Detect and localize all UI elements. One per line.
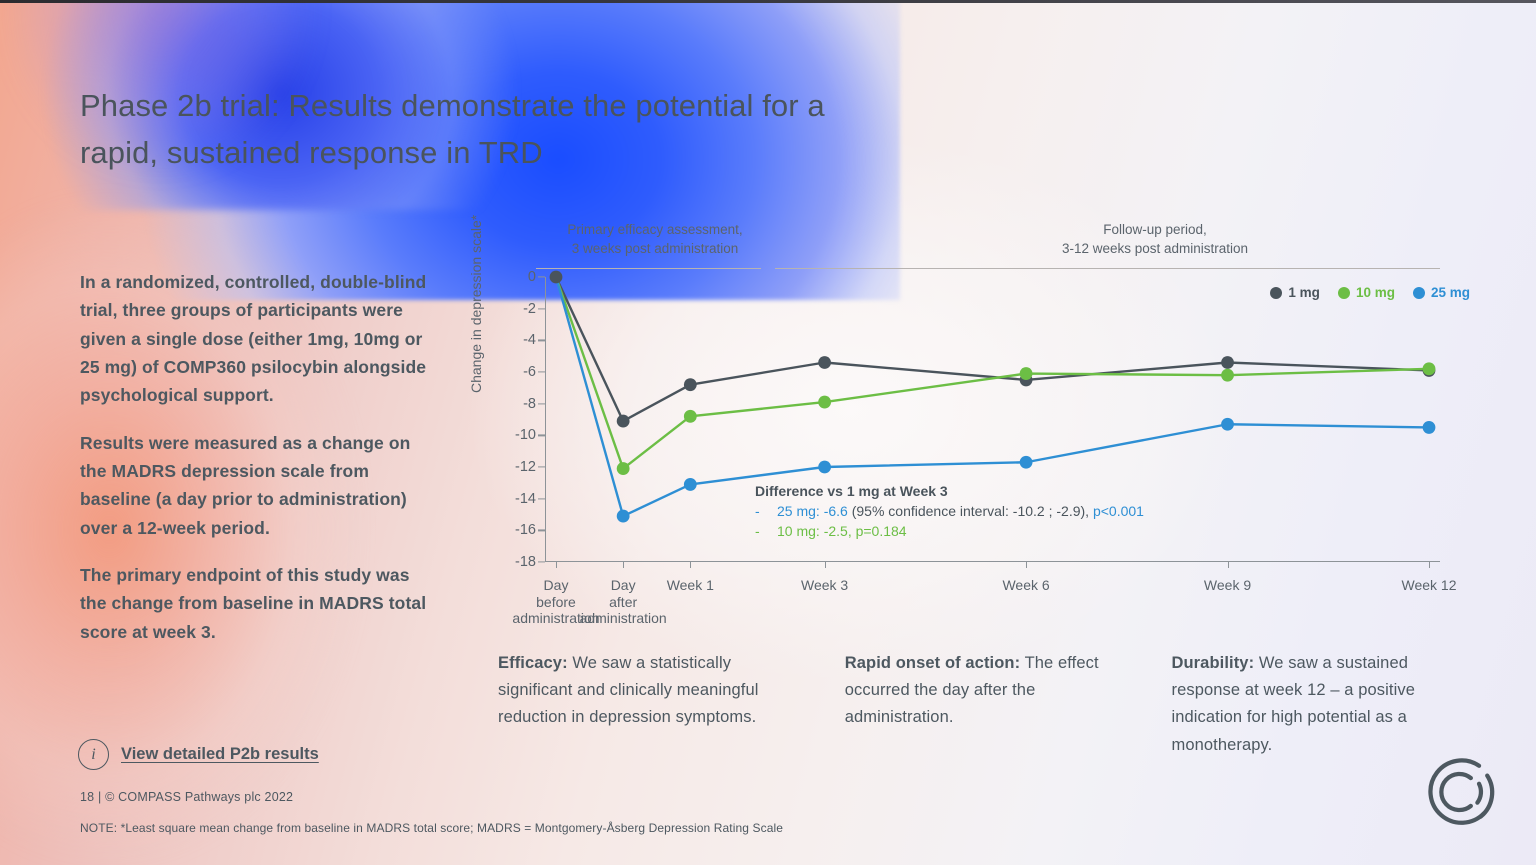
x-axis-tick-mark xyxy=(623,562,624,568)
x-axis-tick-label-line: Week 6 xyxy=(1002,577,1049,594)
footer-note: NOTE: *Least square mean change from bas… xyxy=(80,821,783,835)
y-axis-tick-label: -16 xyxy=(515,522,536,538)
data-point xyxy=(617,510,630,523)
callout-efficacy: Efficacy: We saw a statistically signifi… xyxy=(498,650,785,759)
body-paragraph-2: Results were measured as a change on the… xyxy=(80,429,440,542)
y-axis-tick-mark xyxy=(538,435,545,436)
series-layer xyxy=(545,277,845,427)
annotation-title: Difference vs 1 mg at Week 3 xyxy=(755,483,1144,499)
period-label-followup: Follow-up period, 3-12 weeks post admini… xyxy=(1000,220,1310,258)
x-axis-tick-mark xyxy=(690,562,691,568)
detailed-results-link-label[interactable]: View detailed P2b results xyxy=(121,745,319,764)
y-axis-tick-label: -2 xyxy=(523,301,536,317)
y-axis-tick-mark xyxy=(538,276,545,277)
y-axis-tick-mark xyxy=(538,466,545,467)
data-point xyxy=(818,396,831,409)
body-paragraph-1: In a randomized, controlled, double-blin… xyxy=(80,268,440,410)
results-chart: Primary efficacy assessment, 3 weeks pos… xyxy=(470,215,1470,615)
annotation-pvalue-25mg: p<0.001 xyxy=(1093,503,1144,519)
period-followup-line2: 3-12 weeks post administration xyxy=(1000,239,1310,258)
info-icon: i xyxy=(78,739,109,770)
annotation-detail-25mg: (95% confidence interval: -10.2 ; -2.9), xyxy=(848,503,1093,519)
data-point xyxy=(1423,362,1436,375)
annotation-bullet: - xyxy=(755,502,765,522)
series-line-1mg xyxy=(556,277,1429,421)
x-axis-tick-mark xyxy=(1228,562,1229,568)
x-axis-tick-mark xyxy=(1026,562,1027,568)
x-axis-tick-mark xyxy=(825,562,826,568)
period-followup-line1: Follow-up period, xyxy=(1000,220,1310,239)
period-primary-line2: 3 weeks post administration xyxy=(550,239,760,258)
data-point xyxy=(684,410,697,423)
body-copy: In a randomized, controlled, double-blin… xyxy=(80,268,440,665)
x-axis-tick-label: Week 12 xyxy=(1402,577,1457,594)
x-axis-tick-label-line: Week 3 xyxy=(801,577,848,594)
y-axis-tick-label: -8 xyxy=(523,396,536,412)
y-axis-tick-mark xyxy=(538,498,545,499)
footer-copyright: 18 | © COMPASS Pathways plc 2022 xyxy=(80,790,293,804)
y-axis-tick-mark xyxy=(538,561,545,562)
period-rule-followup xyxy=(775,268,1440,269)
data-point xyxy=(818,461,831,474)
data-point xyxy=(684,478,697,491)
data-point xyxy=(684,378,697,391)
y-axis-tick-label: -10 xyxy=(515,427,536,443)
y-axis-tick-label: -14 xyxy=(515,491,536,507)
x-axis-tick-label: Dayafteradministration xyxy=(580,577,667,627)
annotation-bullet: - xyxy=(755,522,765,542)
series-line-10mg xyxy=(556,277,1429,469)
annotation-row-10mg: - 10 mg: -2.5, p=0.184 xyxy=(755,522,1144,542)
x-axis-tick-label-line: administration xyxy=(580,610,667,627)
key-findings: Efficacy: We saw a statistically signifi… xyxy=(498,650,1478,759)
data-point xyxy=(818,356,831,369)
y-axis-tick-mark xyxy=(538,530,545,531)
data-point xyxy=(617,462,630,475)
y-axis-tick-label: -6 xyxy=(523,364,536,380)
compass-logo-icon xyxy=(1420,751,1502,833)
y-axis-tick-mark xyxy=(538,308,545,309)
annotation-row-25mg: - 25 mg: -6.6 (95% confidence interval: … xyxy=(755,502,1144,522)
x-axis-tick-label-line: Week 1 xyxy=(667,577,714,594)
annotation-text-25mg: 25 mg: -6.6 (95% confidence interval: -1… xyxy=(777,502,1144,522)
callout-durability: Durability: We saw a sustained response … xyxy=(1171,650,1478,759)
y-axis-tick-mark xyxy=(538,340,545,341)
x-axis-tick-label-line: after xyxy=(580,594,667,611)
callout-rapid-onset: Rapid onset of action: The effect occurr… xyxy=(845,650,1132,759)
slide-canvas: Phase 2b trial: Results demonstrate the … xyxy=(0,0,1536,865)
x-axis-tick-label-line: Week 12 xyxy=(1402,577,1457,594)
data-point xyxy=(1020,367,1033,380)
period-primary-line1: Primary efficacy assessment, xyxy=(550,220,760,239)
difference-annotation: Difference vs 1 mg at Week 3 - 25 mg: -6… xyxy=(755,483,1144,542)
x-axis-tick-label: Week 3 xyxy=(801,577,848,594)
detailed-results-link[interactable]: i View detailed P2b results xyxy=(78,739,319,770)
x-axis-tick-label: Week 9 xyxy=(1204,577,1251,594)
period-label-primary: Primary efficacy assessment, 3 weeks pos… xyxy=(550,220,760,258)
y-axis-tick-label: 0 xyxy=(528,269,536,285)
annotation-text-10mg: 10 mg: -2.5, p=0.184 xyxy=(777,522,907,542)
callout-efficacy-title: Efficacy: xyxy=(498,654,568,672)
data-point xyxy=(550,271,563,284)
body-paragraph-3: The primary endpoint of this study was t… xyxy=(80,561,440,646)
x-axis-tick-label-line: Week 9 xyxy=(1204,577,1251,594)
x-axis-tick-label-line: Day xyxy=(580,577,667,594)
x-axis-line xyxy=(545,561,1440,562)
annotation-dose-10mg: 10 mg: -2.5, p=0.184 xyxy=(777,523,907,539)
y-axis-tick-mark xyxy=(538,371,545,372)
x-axis-tick-label: Week 1 xyxy=(667,577,714,594)
x-axis-tick-mark xyxy=(556,562,557,568)
data-point xyxy=(1423,421,1436,434)
period-rule-primary xyxy=(536,268,761,269)
y-axis-tick-mark xyxy=(538,403,545,404)
x-axis-tick-mark xyxy=(1429,562,1430,568)
callout-durability-title: Durability: xyxy=(1171,654,1254,672)
page-title: Phase 2b trial: Results demonstrate the … xyxy=(80,82,910,176)
data-point xyxy=(1221,369,1234,382)
data-point xyxy=(617,415,630,428)
x-axis-tick-label: Week 6 xyxy=(1002,577,1049,594)
data-point xyxy=(1221,418,1234,431)
top-accent-bar xyxy=(0,0,1536,3)
y-axis-tick-label: -4 xyxy=(523,332,536,348)
callout-rapid-onset-title: Rapid onset of action: xyxy=(845,654,1020,672)
y-axis-label: Change in depression scale* xyxy=(468,215,484,393)
data-point xyxy=(1020,456,1033,469)
y-axis-tick-label: -12 xyxy=(515,459,536,475)
y-axis-tick-label: -18 xyxy=(515,554,536,570)
data-point xyxy=(1221,356,1234,369)
annotation-dose-25mg: 25 mg: -6.6 xyxy=(777,503,848,519)
